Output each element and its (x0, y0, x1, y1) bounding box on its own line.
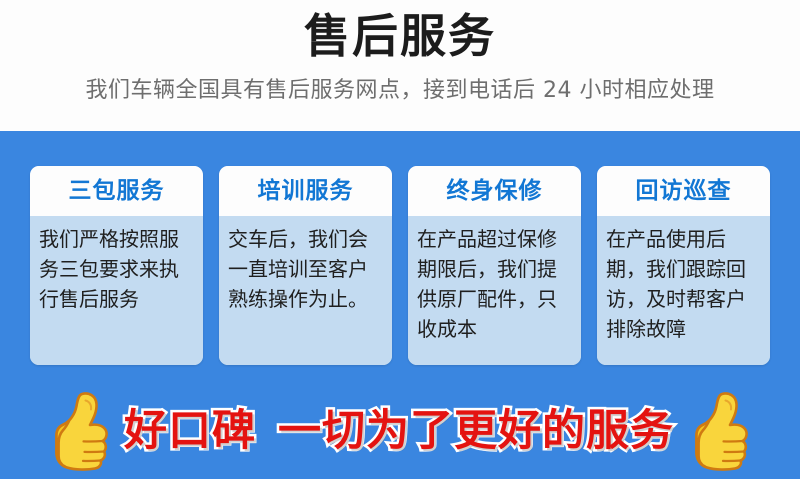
service-cards-row: 三包服务 我们严格按照服务三包要求来执行售后服务 培训服务 交车后，我们会一直培… (30, 166, 770, 365)
card-header: 终身保修 (408, 166, 581, 216)
thumbs-up-icon (684, 388, 756, 474)
page-subtitle: 我们车辆全国具有售后服务网点，接到电话后 24 小时相应处理 (0, 66, 800, 106)
card-body: 我们严格按照服务三包要求来执行售后服务 (30, 216, 203, 365)
service-card-followup-inspection[interactable]: 回访巡查 在产品使用后期，我们跟踪回访，及时帮客户排除故障 (597, 166, 770, 365)
card-body: 在产品超过保修期限后，我们提供原厂配件，只收成本 (408, 216, 581, 365)
header-section: 售后服务 我们车辆全国具有售后服务网点，接到电话后 24 小时相应处理 (0, 0, 800, 131)
slogan-section: 好口碑一切为了更好的服务 (0, 383, 800, 479)
blue-content-panel: 三包服务 我们严格按照服务三包要求来执行售后服务 培训服务 交车后，我们会一直培… (0, 131, 800, 479)
slogan-part-2: 一切为了更好的服务 (278, 406, 674, 456)
card-body: 在产品使用后期，我们跟踪回访，及时帮客户排除故障 (597, 216, 770, 365)
card-body: 交车后，我们会一直培训至客户熟练操作为止。 (219, 216, 392, 365)
service-card-training[interactable]: 培训服务 交车后，我们会一直培训至客户熟练操作为止。 (219, 166, 392, 365)
card-description: 我们严格按照服务三包要求来执行售后服务 (39, 227, 179, 311)
slogan-text-line: 好口碑一切为了更好的服务 (124, 405, 674, 457)
card-title: 培训服务 (258, 176, 354, 206)
card-header: 回访巡查 (597, 166, 770, 216)
card-description: 交车后，我们会一直培训至客户熟练操作为止。 (228, 227, 368, 311)
card-description: 在产品超过保修期限后，我们提供原厂配件，只收成本 (417, 227, 557, 341)
after-sales-service-banner: 售后服务 我们车辆全国具有售后服务网点，接到电话后 24 小时相应处理 三包服务… (0, 0, 800, 479)
card-title: 三包服务 (69, 176, 165, 206)
card-header: 培训服务 (219, 166, 392, 216)
card-description: 在产品使用后期，我们跟踪回访，及时帮客户排除故障 (606, 227, 746, 341)
card-title: 终身保修 (447, 176, 543, 206)
service-card-lifetime-warranty[interactable]: 终身保修 在产品超过保修期限后，我们提供原厂配件，只收成本 (408, 166, 581, 365)
page-title: 售后服务 (0, 0, 800, 66)
card-header: 三包服务 (30, 166, 203, 216)
thumbs-up-icon (44, 388, 116, 474)
card-title: 回访巡查 (636, 176, 732, 206)
slogan-part-1: 好口碑 (124, 406, 256, 456)
service-card-sanbao[interactable]: 三包服务 我们严格按照服务三包要求来执行售后服务 (30, 166, 203, 365)
